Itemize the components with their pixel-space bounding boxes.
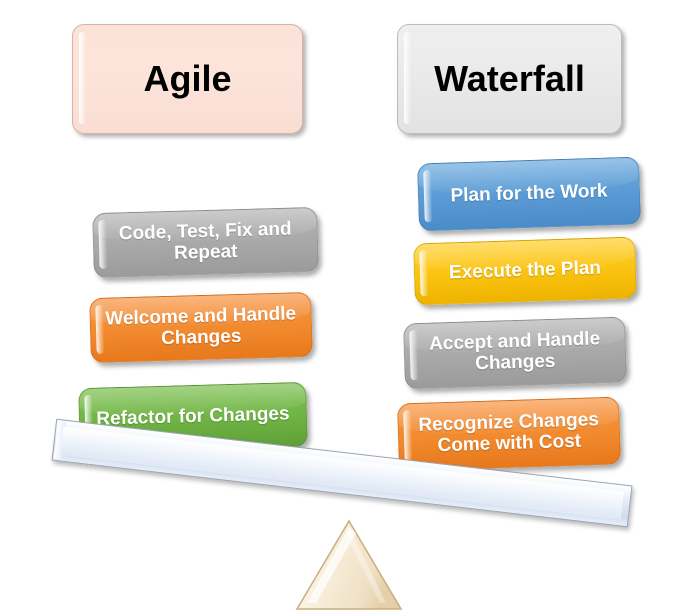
agile-header-label: Agile [143,61,231,97]
agile-item-code-test-fix-and-repeat[interactable]: Code, Test, Fix and Repeat [92,207,319,278]
agile-item-welcome-and-handle-changes[interactable]: Welcome and Handle Changes [89,292,313,363]
diagram-canvas: Agile Waterfall Code, Test, Fix and Repe… [0,0,691,616]
waterfall-item-label: Accept and Handle Changes [404,329,625,377]
waterfall-item-label: Execute the Plan [437,258,614,284]
waterfall-item-label: Plan for the Work [438,181,620,207]
waterfall-header-card[interactable]: Waterfall [397,24,622,134]
waterfall-header-label: Waterfall [434,61,585,97]
waterfall-item-label: Recognize Changes Come with Cost [398,410,619,458]
waterfall-item-plan-for-the-work[interactable]: Plan for the Work [417,157,641,232]
agile-item-label: Welcome and Handle Changes [90,304,311,351]
waterfall-item-execute-the-plan[interactable]: Execute the Plan [413,237,637,306]
fulcrum-icon [294,519,404,611]
agile-header-card[interactable]: Agile [72,24,303,134]
fulcrum-triangle [294,519,404,611]
waterfall-item-accept-and-handle-changes[interactable]: Accept and Handle Changes [403,317,627,390]
agile-item-label: Code, Test, Fix and Repeat [93,219,317,266]
waterfall-item-recognize-changes-come-with-cost[interactable]: Recognize Changes Come with Cost [397,397,621,472]
